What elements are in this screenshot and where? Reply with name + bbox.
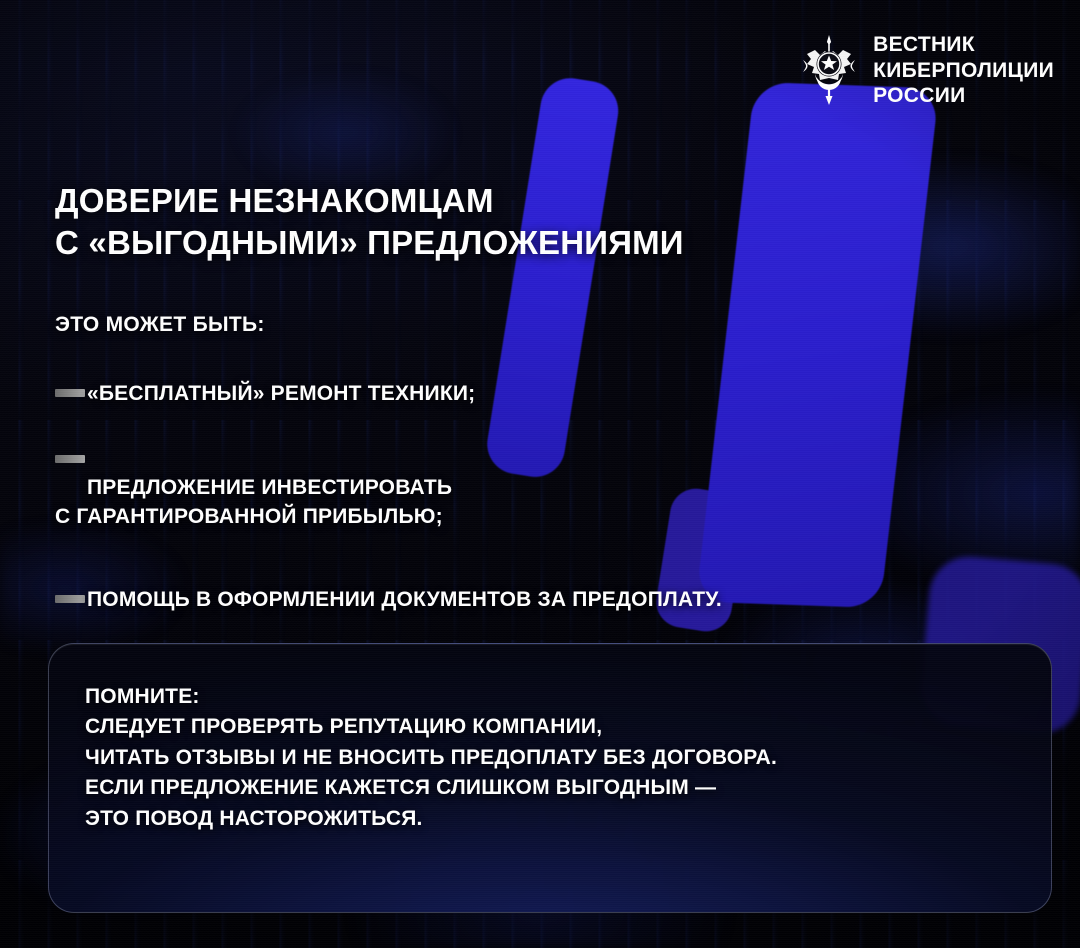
risk-list: «БЕСПЛАТНЫЙ» РЕМОНТ ТЕХНИКИ; ПРЕДЛОЖЕНИЕ…	[55, 380, 1015, 651]
list-item-label: ПОМОЩЬ В ОФОРМЛЕНИИ ДОКУМЕНТОВ ЗА ПРЕДОП…	[87, 586, 722, 615]
mvd-emblem-icon	[801, 34, 857, 106]
list-item-label: ПРЕДЛОЖЕНИЕ ИНВЕСТИРОВАТЬ С ГАРАНТИРОВАН…	[87, 446, 452, 560]
page-title: ДОВЕРИЕ НЕЗНАКОМЦАМ С «ВЫГОДНЫМИ» ПРЕДЛО…	[55, 180, 855, 263]
list-item: «БЕСПЛАТНЫЙ» РЕМОНТ ТЕХНИКИ;	[55, 380, 1015, 409]
reminder-text: ПОМНИТЕ: СЛЕДУЕТ ПРОВЕРЯТЬ РЕПУТАЦИЮ КОМ…	[85, 682, 1033, 834]
list-item: ПРЕДЛОЖЕНИЕ ИНВЕСТИРОВАТЬ С ГАРАНТИРОВАН…	[55, 446, 1015, 560]
list-item-line-2: С ГАРАНТИРОВАННОЙ ПРИБЫЛЬЮ;	[55, 503, 452, 532]
dash-bullet-icon	[55, 389, 85, 397]
brand-name: ВЕСТНИК КИБЕРПОЛИЦИИ РОССИИ	[873, 32, 1054, 109]
dash-bullet-icon	[55, 595, 85, 603]
list-item: ПОМОЩЬ В ОФОРМЛЕНИИ ДОКУМЕНТОВ ЗА ПРЕДОП…	[55, 586, 1015, 615]
poster-canvas: ВЕСТНИК КИБЕРПОЛИЦИИ РОССИИ ДОВЕРИЕ НЕЗН…	[0, 0, 1080, 948]
reminder-card: ПОМНИТЕ: СЛЕДУЕТ ПРОВЕРЯТЬ РЕПУТАЦИЮ КОМ…	[48, 643, 1052, 913]
brand-lockup: ВЕСТНИК КИБЕРПОЛИЦИИ РОССИИ	[801, 32, 1054, 109]
list-item-line-1: ПРЕДЛОЖЕНИЕ ИНВЕСТИРОВАТЬ	[87, 476, 452, 499]
list-item-label: «БЕСПЛАТНЫЙ» РЕМОНТ ТЕХНИКИ;	[87, 380, 475, 409]
lead-text: ЭТО МОЖЕТ БЫТЬ:	[55, 313, 265, 337]
dash-bullet-icon	[55, 455, 85, 463]
